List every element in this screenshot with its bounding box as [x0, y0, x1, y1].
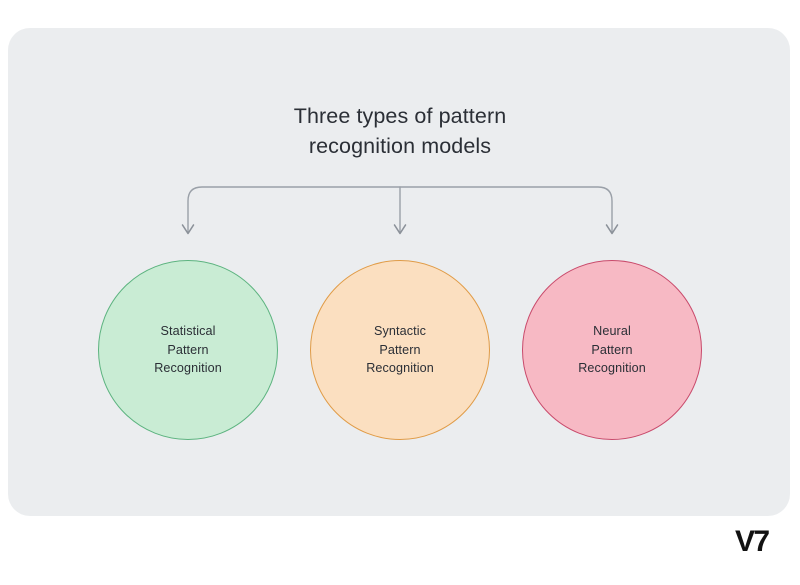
- node-label: Neural Pattern Recognition: [578, 322, 646, 378]
- diagram-canvas: Three types of pattern recognition model…: [0, 0, 800, 585]
- node-syntactic-pattern-recognition[interactable]: Syntactic Pattern Recognition: [310, 260, 490, 440]
- node-group: Statistical Pattern Recognition Syntacti…: [0, 260, 800, 442]
- bracket-connector: [150, 175, 650, 245]
- page-title: Three types of pattern recognition model…: [0, 101, 800, 161]
- node-neural-pattern-recognition[interactable]: Neural Pattern Recognition: [522, 260, 702, 440]
- v7-logo: V7: [735, 526, 769, 558]
- node-label: Syntactic Pattern Recognition: [366, 322, 434, 378]
- node-statistical-pattern-recognition[interactable]: Statistical Pattern Recognition: [98, 260, 278, 440]
- node-label: Statistical Pattern Recognition: [154, 322, 222, 378]
